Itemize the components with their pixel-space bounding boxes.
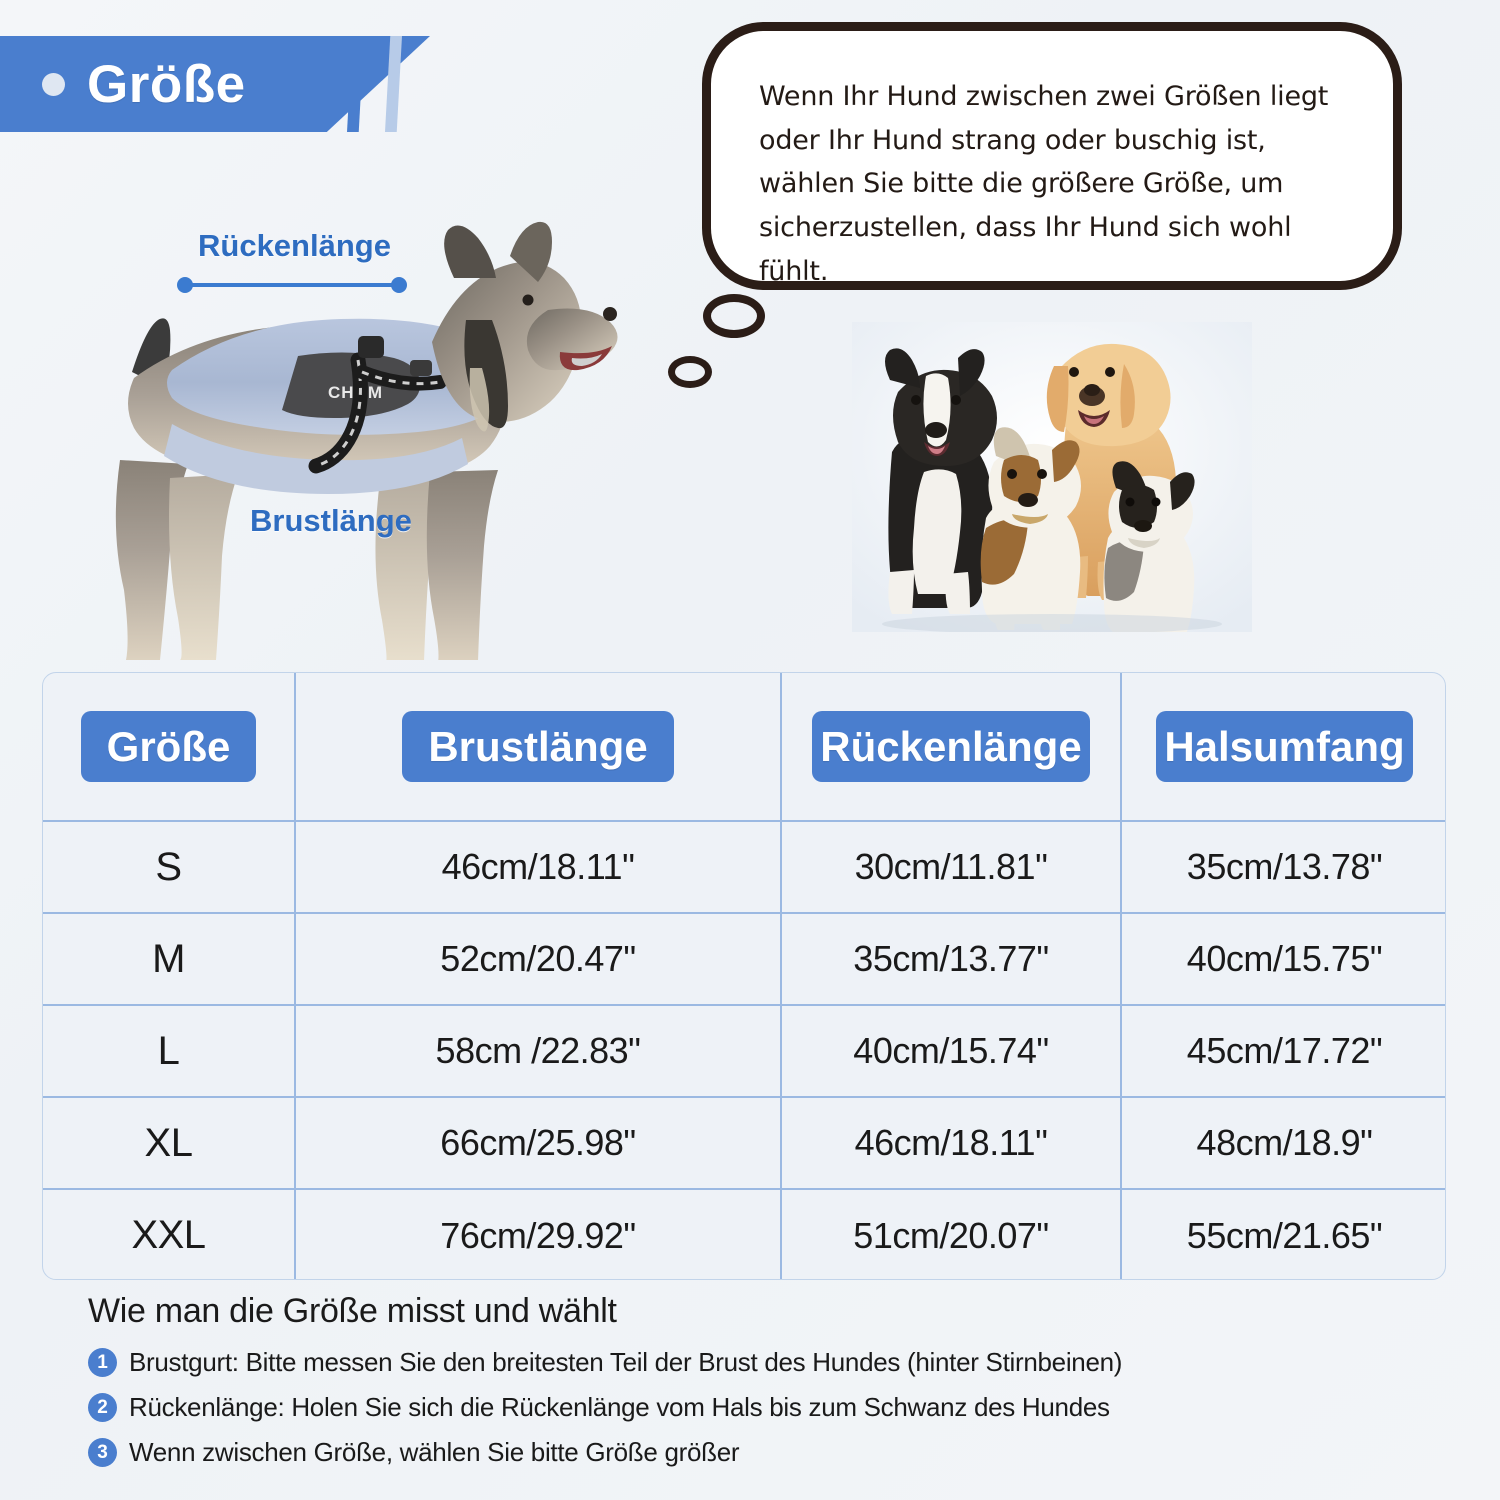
back-length-measure-line bbox=[176, 277, 408, 293]
dogs-group-svg bbox=[852, 322, 1252, 632]
size-table-card: Größe Brustlänge Rückenlänge Halsumfang … bbox=[42, 672, 1446, 1280]
table-row: M 52cm/20.47" 35cm/13.77" 40cm/15.75" bbox=[43, 913, 1446, 1005]
cell-back: 51cm/20.07" bbox=[781, 1189, 1121, 1280]
cell-back: 35cm/13.77" bbox=[781, 913, 1121, 1005]
step-number-badge: 3 bbox=[88, 1438, 117, 1467]
back-length-label: Rückenlänge bbox=[198, 228, 391, 264]
cell-back: 40cm/15.74" bbox=[781, 1005, 1121, 1097]
step-number-badge: 1 bbox=[88, 1348, 117, 1377]
table-row: XL 66cm/25.98" 46cm/18.11" 48cm/18.9" bbox=[43, 1097, 1446, 1189]
cell-back: 46cm/18.11" bbox=[781, 1097, 1121, 1189]
howto-title: Wie man die Größe misst und wählt bbox=[88, 1292, 1418, 1331]
size-table-head: Größe Brustlänge Rückenlänge Halsumfang bbox=[43, 673, 1446, 821]
tip-speech-bubble: Wenn Ihr Hund zwischen zwei Größen liegt… bbox=[702, 22, 1402, 290]
step-text: Rückenlänge: Holen Sie sich die Rückenlä… bbox=[129, 1392, 1110, 1423]
cell-size: L bbox=[43, 1005, 295, 1097]
header-pill-chest: Brustlänge bbox=[402, 711, 673, 782]
size-chart-page: Größe Wenn Ihr Hund zwischen zwei Größen… bbox=[0, 0, 1500, 1500]
cell-size: XXL bbox=[43, 1189, 295, 1280]
cell-size: M bbox=[43, 913, 295, 1005]
table-row: S 46cm/18.11" 30cm/11.81" 35cm/13.78" bbox=[43, 821, 1446, 913]
cell-neck: 45cm/17.72" bbox=[1121, 1005, 1446, 1097]
border-collie bbox=[885, 348, 997, 614]
size-table: Größe Brustlänge Rückenlänge Halsumfang … bbox=[43, 673, 1446, 1280]
tip-text: Wenn Ihr Hund zwischen zwei Größen liegt… bbox=[759, 75, 1345, 294]
dogs-group-photo bbox=[852, 322, 1252, 632]
cell-chest: 76cm/29.92" bbox=[295, 1189, 781, 1280]
cell-neck: 35cm/13.78" bbox=[1121, 821, 1446, 913]
column-header-neck: Halsumfang bbox=[1121, 673, 1446, 821]
column-header-back: Rückenlänge bbox=[781, 673, 1121, 821]
cell-neck: 40cm/15.75" bbox=[1121, 913, 1446, 1005]
step-text: Wenn zwischen Größe, wählen Sie bitte Gr… bbox=[129, 1437, 739, 1468]
chest-length-label: Brustlänge bbox=[250, 503, 412, 539]
howto-step: 3 Wenn zwischen Größe, wählen Sie bitte … bbox=[88, 1437, 1418, 1468]
speech-bubble-tail-large bbox=[703, 294, 765, 338]
cell-neck: 48cm/18.9" bbox=[1121, 1097, 1446, 1189]
size-table-body: S 46cm/18.11" 30cm/11.81" 35cm/13.78" M … bbox=[43, 821, 1446, 1280]
step-text: Brustgurt: Bitte messen Sie den breitest… bbox=[129, 1347, 1122, 1378]
cell-chest: 66cm/25.98" bbox=[295, 1097, 781, 1189]
table-header-row: Größe Brustlänge Rückenlänge Halsumfang bbox=[43, 673, 1446, 821]
cell-size: S bbox=[43, 821, 295, 913]
cell-back: 30cm/11.81" bbox=[781, 821, 1121, 913]
table-row: XXL 76cm/29.92" 51cm/20.07" 55cm/21.65" bbox=[43, 1189, 1446, 1280]
column-header-chest: Brustlänge bbox=[295, 673, 781, 821]
column-header-size: Größe bbox=[43, 673, 295, 821]
cell-size: XL bbox=[43, 1097, 295, 1189]
header-pill-back: Rückenlänge bbox=[812, 711, 1089, 782]
cell-chest: 52cm/20.47" bbox=[295, 913, 781, 1005]
speech-bubble-tail-small bbox=[668, 356, 712, 388]
cell-neck: 55cm/21.65" bbox=[1121, 1189, 1446, 1280]
bullet-dot-icon bbox=[42, 73, 65, 96]
banner-shape: Größe bbox=[0, 36, 430, 132]
howto-section: Wie man die Größe misst und wählt 1 Brus… bbox=[88, 1292, 1418, 1482]
step-number-badge: 2 bbox=[88, 1393, 117, 1422]
header-pill-neck: Halsumfang bbox=[1156, 711, 1412, 782]
header-banner: Größe bbox=[0, 36, 560, 132]
cell-chest: 58cm /22.83" bbox=[295, 1005, 781, 1097]
howto-step: 1 Brustgurt: Bitte messen Sie den breite… bbox=[88, 1347, 1418, 1378]
header-pill-size: Größe bbox=[81, 711, 257, 782]
page-title: Größe bbox=[87, 54, 246, 115]
terrier-puppy bbox=[1104, 461, 1195, 632]
cell-chest: 46cm/18.11" bbox=[295, 821, 781, 913]
table-row: L 58cm /22.83" 40cm/15.74" 45cm/17.72" bbox=[43, 1005, 1446, 1097]
howto-step: 2 Rückenlänge: Holen Sie sich die Rücken… bbox=[88, 1392, 1418, 1423]
